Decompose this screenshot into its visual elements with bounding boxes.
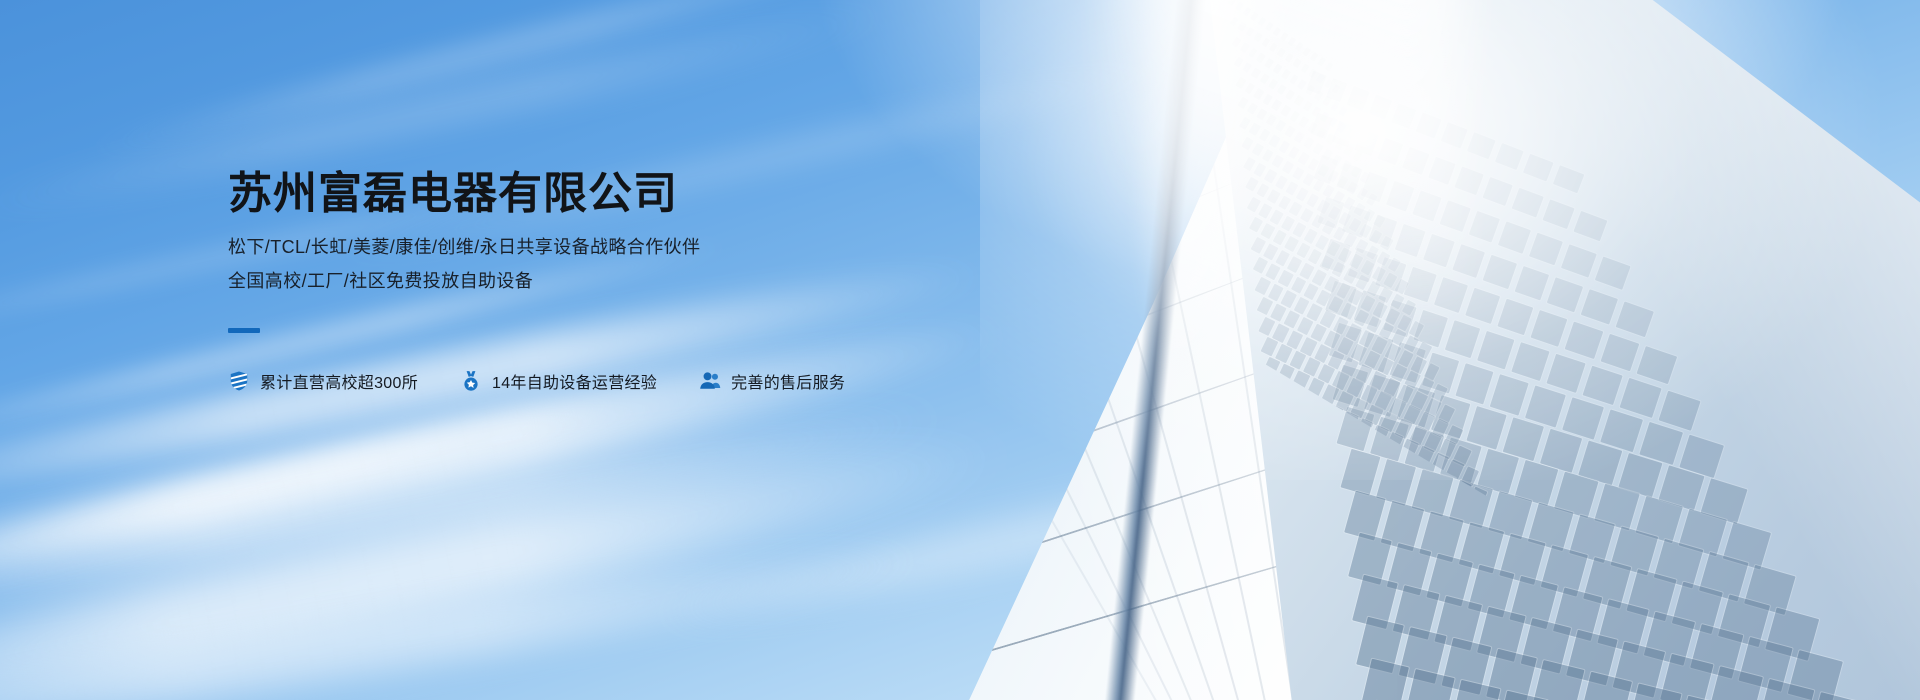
banner-content: 苏州富磊电器有限公司 松下/TCL/长虹/美菱/康佳/创维/永日共享设备战略合作… <box>228 168 1128 393</box>
window-pane <box>1349 254 1363 270</box>
window-pane <box>1366 245 1380 260</box>
window-pane <box>1766 608 1819 661</box>
window-pane <box>1259 317 1276 336</box>
window-pane <box>1285 181 1298 195</box>
window-pane <box>1302 173 1314 187</box>
window-pane <box>1377 251 1391 266</box>
window-pane <box>1319 255 1334 271</box>
window-pane <box>1356 187 1368 200</box>
window-pane <box>1278 270 1294 287</box>
window-pane <box>1366 193 1378 206</box>
window-pane <box>1348 289 1363 306</box>
window-pane <box>1360 295 1375 312</box>
feature-badge-label: 14年自助设备运营经验 <box>492 369 657 393</box>
window-pane <box>1303 137 1314 150</box>
window-pane <box>1308 158 1320 171</box>
window-pane <box>1317 199 1330 213</box>
window-pane <box>1303 283 1319 300</box>
window-pane <box>1308 249 1323 265</box>
window-pane <box>1672 582 1723 634</box>
window-pane <box>1499 534 1545 585</box>
window-pane <box>1355 239 1369 254</box>
window-pane <box>1477 607 1526 662</box>
window-pane <box>1306 193 1319 207</box>
window-pane <box>1412 469 1454 517</box>
window-pane <box>1324 276 1339 293</box>
window-pane <box>1328 296 1344 313</box>
window-pane <box>1338 247 1352 263</box>
window-pane <box>1398 627 1446 684</box>
window-pane <box>1296 242 1311 258</box>
window-pane <box>1275 175 1288 189</box>
window-pane <box>1341 303 1357 320</box>
window-pane <box>1345 128 1355 139</box>
window-pane <box>1340 160 1351 173</box>
accent-divider <box>228 328 260 333</box>
window-pane <box>1373 302 1388 319</box>
window-pane <box>1302 47 1311 56</box>
window-pane <box>1658 391 1701 432</box>
window-pane <box>1316 74 1325 84</box>
window-pane <box>1294 297 1310 315</box>
window-pane <box>1698 552 1748 602</box>
window-pane <box>1281 69 1291 80</box>
shield-icon <box>228 370 250 392</box>
window-pane <box>1285 90 1295 101</box>
window-pane <box>1261 337 1279 357</box>
window-pane <box>1611 527 1659 576</box>
window-pane <box>1288 146 1300 159</box>
window-pane <box>1298 116 1309 128</box>
window-pane <box>1347 181 1359 194</box>
window-pane <box>1627 684 1681 700</box>
window-pane <box>1350 166 1361 179</box>
window-pane <box>1319 111 1329 122</box>
window-pane <box>1334 139 1345 151</box>
window-row <box>1360 659 1914 700</box>
window-pane <box>1325 133 1336 145</box>
window-pane <box>1738 637 1792 692</box>
window-pane <box>1282 161 1294 175</box>
window-pane <box>1809 692 1866 700</box>
window-pane <box>1378 287 1393 303</box>
window-pane <box>1289 74 1299 85</box>
window-pane <box>1639 422 1683 465</box>
window-pane <box>1618 453 1663 498</box>
window-pane <box>1292 167 1304 181</box>
window-pane <box>1787 650 1842 700</box>
window-pane <box>1280 105 1291 117</box>
window-pane <box>1532 660 1584 700</box>
window-pane <box>1385 308 1400 325</box>
window-pane <box>1353 203 1365 217</box>
window-pane <box>1312 269 1327 286</box>
window-pane <box>1356 617 1403 674</box>
window-pane <box>1292 58 1301 68</box>
window-pane <box>1331 154 1342 167</box>
window-pane <box>1327 206 1340 220</box>
window-pane <box>1294 131 1305 144</box>
window-pane <box>1267 189 1281 204</box>
window-pane <box>1297 79 1307 90</box>
window-pane <box>1338 106 1348 117</box>
window-pane <box>1325 62 1334 71</box>
feature-badge-label: 累计直营高校超300所 <box>260 369 418 393</box>
window-pane <box>1373 215 1385 229</box>
window-pane <box>1275 120 1286 133</box>
window-pane <box>1676 696 1731 700</box>
feature-badge: 累计直营高校超300所 <box>228 369 418 393</box>
window-pane <box>1337 175 1349 188</box>
window-pane <box>1598 599 1648 653</box>
medal-icon <box>460 370 482 392</box>
window-pane <box>1257 297 1274 315</box>
window-pane <box>1298 152 1310 165</box>
window-pane <box>1376 459 1417 506</box>
window-pane <box>1306 85 1316 96</box>
window-pane <box>1337 122 1347 133</box>
window-pane <box>1302 101 1312 112</box>
window-pane <box>1679 435 1724 478</box>
window-pane <box>1660 654 1714 700</box>
window-pane <box>1612 642 1664 698</box>
users-icon <box>699 370 721 392</box>
window-pane <box>1343 144 1354 156</box>
window-pane <box>1300 208 1314 223</box>
window-pane <box>1300 63 1309 73</box>
window-pane <box>1281 216 1295 232</box>
window-pane <box>1311 106 1321 117</box>
window-pane <box>1284 53 1293 63</box>
window-pane <box>1316 127 1327 139</box>
window-pane <box>1307 122 1318 134</box>
window-pane <box>1348 533 1392 585</box>
window-pane <box>1322 148 1333 161</box>
window-pane <box>1281 290 1297 308</box>
window-pane <box>1627 569 1677 621</box>
window-pane <box>1510 576 1558 629</box>
window-pane <box>1322 220 1336 235</box>
window-pane <box>1294 95 1304 106</box>
window-pane <box>1328 117 1338 128</box>
feature-badge: 完善的售后服务 <box>699 369 845 393</box>
window-pane <box>1496 691 1549 700</box>
window-pane <box>1275 250 1290 267</box>
window-pane <box>1314 90 1324 101</box>
banner-subtitle-2: 全国高校/工厂/社区免费投放自助设备 <box>228 264 1128 298</box>
window-pane <box>1268 283 1284 301</box>
window-pane <box>1486 649 1537 700</box>
window-pane <box>1360 659 1409 700</box>
window-pane <box>1322 95 1332 106</box>
window-pane <box>1718 594 1770 646</box>
window-pane <box>1679 509 1727 557</box>
window-pane <box>1419 512 1463 562</box>
window-pane <box>1290 276 1306 293</box>
window-pane <box>1349 218 1362 232</box>
window-pane <box>1370 230 1383 244</box>
feature-badge: 14年自助设备运营经验 <box>460 369 657 393</box>
window-pane <box>1322 185 1334 199</box>
window-pane <box>1390 293 1405 309</box>
window-pane <box>1361 260 1375 276</box>
window-pane <box>1383 272 1397 288</box>
window-pane <box>1427 554 1473 607</box>
window-pane <box>1393 585 1440 640</box>
window-pane <box>1284 236 1299 252</box>
window-pane <box>1327 170 1339 183</box>
window-pane <box>1659 465 1705 510</box>
window-pane <box>1331 262 1346 278</box>
window-pane <box>1355 274 1370 290</box>
window-pane <box>1270 209 1284 225</box>
window-pane <box>1359 171 1370 184</box>
window-pane <box>1372 266 1386 282</box>
window-pane <box>1352 150 1363 162</box>
window-pane <box>1310 52 1319 61</box>
window-pane <box>1333 191 1345 205</box>
window-pane <box>1315 235 1329 251</box>
window-pane <box>1690 624 1743 678</box>
window-pane <box>1449 680 1500 700</box>
window-pane <box>1468 565 1515 618</box>
window-pane <box>1387 257 1401 272</box>
window-pane <box>1317 164 1329 177</box>
window-pane <box>1643 612 1695 666</box>
window-pane <box>1352 575 1397 629</box>
window-pane <box>1336 282 1351 299</box>
window-pane <box>1744 565 1795 615</box>
window-pane <box>1330 101 1340 112</box>
window-pane <box>1307 303 1323 321</box>
window-pane <box>1566 630 1617 686</box>
window-pane <box>1636 496 1683 543</box>
window-pane <box>1363 209 1375 223</box>
window-pane <box>1344 233 1358 248</box>
window-pane <box>1434 596 1482 651</box>
window-pane <box>1553 588 1602 641</box>
window-pane <box>1758 679 1814 700</box>
hero-banner: 苏州富磊电器有限公司 松下/TCL/长虹/美菱/康佳/创维/永日共享设备战略合作… <box>0 0 1920 700</box>
window-pane <box>1459 522 1504 572</box>
company-title: 苏州富磊电器有限公司 <box>228 168 1128 220</box>
window-pane <box>1541 545 1588 596</box>
window-row <box>1356 617 1890 700</box>
window-pane <box>1311 214 1325 229</box>
window-pane <box>1709 666 1764 700</box>
window-pane <box>1317 57 1326 66</box>
window-pane <box>1324 79 1333 89</box>
window-pane <box>1367 281 1382 297</box>
window-pane <box>1316 290 1332 307</box>
window-pane <box>1287 256 1302 273</box>
window-pane <box>1331 84 1340 94</box>
window-pane <box>1340 449 1380 496</box>
window-pane <box>1278 195 1292 210</box>
window-pane <box>1521 618 1571 674</box>
window-row <box>1352 575 1866 700</box>
banner-subtitle-1: 松下/TCL/长虹/美菱/康佳/创维/永日共享设备战略合作伙伴 <box>228 230 1128 264</box>
window-pane <box>1263 243 1278 260</box>
window-pane <box>1583 557 1632 608</box>
window-pane <box>1300 263 1315 280</box>
window-pane <box>1387 543 1432 595</box>
window-pane <box>1343 197 1355 211</box>
window-pane <box>1380 236 1393 250</box>
window-pane <box>1296 187 1309 201</box>
window-pane <box>1278 140 1290 153</box>
window-pane <box>1595 484 1641 531</box>
window-pane <box>1284 126 1295 139</box>
window-pane <box>1304 228 1318 244</box>
facade-band <box>875 24 1146 157</box>
window-pane <box>1265 263 1281 280</box>
window-pane <box>1295 42 1304 51</box>
window-pane <box>1292 222 1306 238</box>
window-pane <box>1701 478 1748 524</box>
window-pane <box>1404 669 1454 700</box>
window-pane <box>1359 224 1372 238</box>
window-pane <box>1722 522 1771 570</box>
window-pane <box>1272 155 1284 169</box>
window-pane <box>1338 212 1351 226</box>
window-row <box>1348 533 1842 700</box>
window-pane <box>1442 638 1492 695</box>
window-pane <box>1289 110 1300 122</box>
window-pane <box>1381 501 1424 551</box>
window-pane <box>1270 303 1287 322</box>
window-pane <box>1344 491 1386 540</box>
window-pane <box>1333 226 1347 241</box>
window-pane <box>1308 69 1317 79</box>
window-pane <box>1272 230 1287 246</box>
window-pane <box>1402 300 1417 316</box>
window-pane <box>1395 279 1409 295</box>
feature-badge-list: 累计直营高校超300所 14年自助设备运营经验 完善的售后服 <box>228 369 1128 393</box>
window-pane <box>1289 202 1303 217</box>
window-pane <box>1312 179 1324 193</box>
feature-badge-label: 完善的售后服务 <box>731 369 845 393</box>
window-pane <box>1343 268 1358 284</box>
window-pane <box>1654 539 1703 589</box>
window-pane <box>1579 672 1632 700</box>
window-pane <box>1287 37 1296 46</box>
window-pane <box>1312 143 1323 156</box>
window-pane <box>1326 241 1340 257</box>
